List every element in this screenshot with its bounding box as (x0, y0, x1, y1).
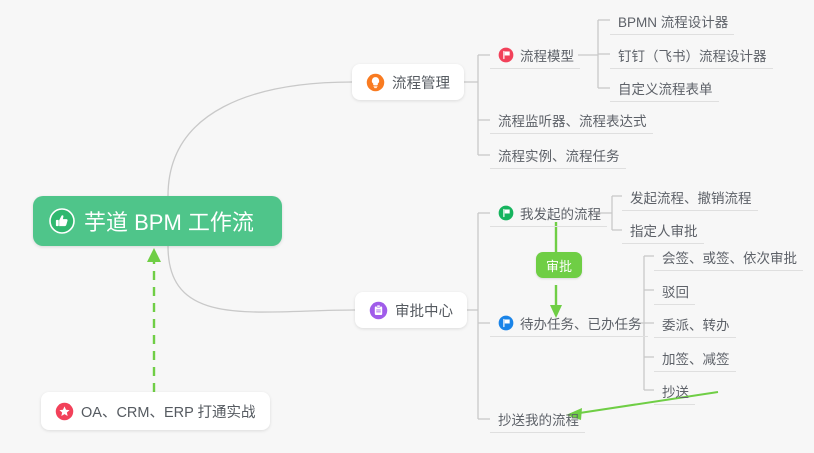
node-dingtalk-designer[interactable]: 钉钉（飞书）流程设计器 (610, 41, 773, 69)
node-my-initiated-process[interactable]: 我发起的流程 (490, 199, 607, 227)
flag-icon (498, 315, 514, 331)
lightbulb-icon (366, 73, 385, 92)
clipboard-icon (369, 301, 388, 320)
annotation-tag-approval: 审批 (536, 252, 582, 278)
branch-node-approval-center[interactable]: 审批中心 (355, 292, 467, 328)
footer-node-label: OA、CRM、ERP 打通实战 (81, 401, 256, 422)
node-label-delegate-transfer: 委派、转办 (662, 314, 730, 334)
node-label-listener-expression: 流程监听器、流程表达式 (498, 110, 647, 130)
node-label-instance-task: 流程实例、流程任务 (498, 145, 620, 165)
node-instance-task[interactable]: 流程实例、流程任务 (490, 141, 626, 169)
node-label-start-cancel-process: 发起流程、撤销流程 (630, 187, 752, 207)
link-root-to-approval-center (168, 246, 355, 312)
node-listener-expression[interactable]: 流程监听器、流程表达式 (490, 106, 653, 134)
node-label-reject: 驳回 (662, 281, 689, 301)
annotation-tag-label: 审批 (546, 256, 572, 275)
node-label-todo-done-tasks: 待办任务、已办任务 (520, 313, 642, 333)
branch-label-process-management: 流程管理 (392, 72, 450, 93)
node-reject[interactable]: 驳回 (654, 277, 695, 305)
flag-icon (498, 47, 514, 63)
thumbs-up-icon (49, 208, 75, 234)
root-label: 芋道 BPM 工作流 (84, 205, 254, 237)
link-root-to-process-management (168, 82, 352, 196)
node-cc[interactable]: 抄送 (654, 377, 695, 405)
node-countersign[interactable]: 会签、或签、依次审批 (654, 243, 803, 271)
node-label-countersign: 会签、或签、依次审批 (662, 247, 797, 267)
node-bpmn-designer[interactable]: BPMN 流程设计器 (610, 7, 734, 35)
node-label-custom-form: 自定义流程表单 (618, 78, 713, 98)
node-label-process-model: 流程模型 (520, 45, 574, 65)
node-label-cc: 抄送 (662, 381, 689, 401)
mindmap-canvas: 芋道 BPM 工作流 流程管理 流程模型 BPMN 流程设计器 钉钉（飞书）流程 (0, 0, 814, 453)
node-label-cc-to-me: 抄送我的流程 (498, 409, 579, 429)
node-label-dingtalk-designer: 钉钉（飞书）流程设计器 (618, 45, 767, 65)
node-label-assigned-approval: 指定人审批 (630, 220, 698, 240)
node-custom-form[interactable]: 自定义流程表单 (610, 74, 719, 102)
branch-label-approval-center: 审批中心 (395, 300, 453, 321)
root-node[interactable]: 芋道 BPM 工作流 (33, 196, 282, 246)
node-delegate-transfer[interactable]: 委派、转办 (654, 310, 736, 338)
cc-arrow-line (573, 392, 718, 414)
node-label-my-initiated-process: 我发起的流程 (520, 203, 601, 223)
dashed-arrow-head (147, 248, 161, 262)
node-add-remove-sign[interactable]: 加签、减签 (654, 344, 736, 372)
node-cc-to-me[interactable]: 抄送我的流程 (490, 405, 585, 433)
node-start-cancel-process[interactable]: 发起流程、撤销流程 (622, 183, 758, 211)
flag-icon (498, 205, 514, 221)
branch-node-process-management[interactable]: 流程管理 (352, 64, 464, 100)
node-assigned-approval[interactable]: 指定人审批 (622, 216, 704, 244)
node-process-model[interactable]: 流程模型 (490, 41, 580, 69)
node-label-add-remove-sign: 加签、减签 (662, 348, 730, 368)
node-label-bpmn-designer: BPMN 流程设计器 (618, 11, 728, 31)
footer-node-integration[interactable]: OA、CRM、ERP 打通实战 (41, 392, 270, 430)
node-todo-done-tasks[interactable]: 待办任务、已办任务 (490, 309, 648, 337)
star-icon (55, 402, 74, 421)
